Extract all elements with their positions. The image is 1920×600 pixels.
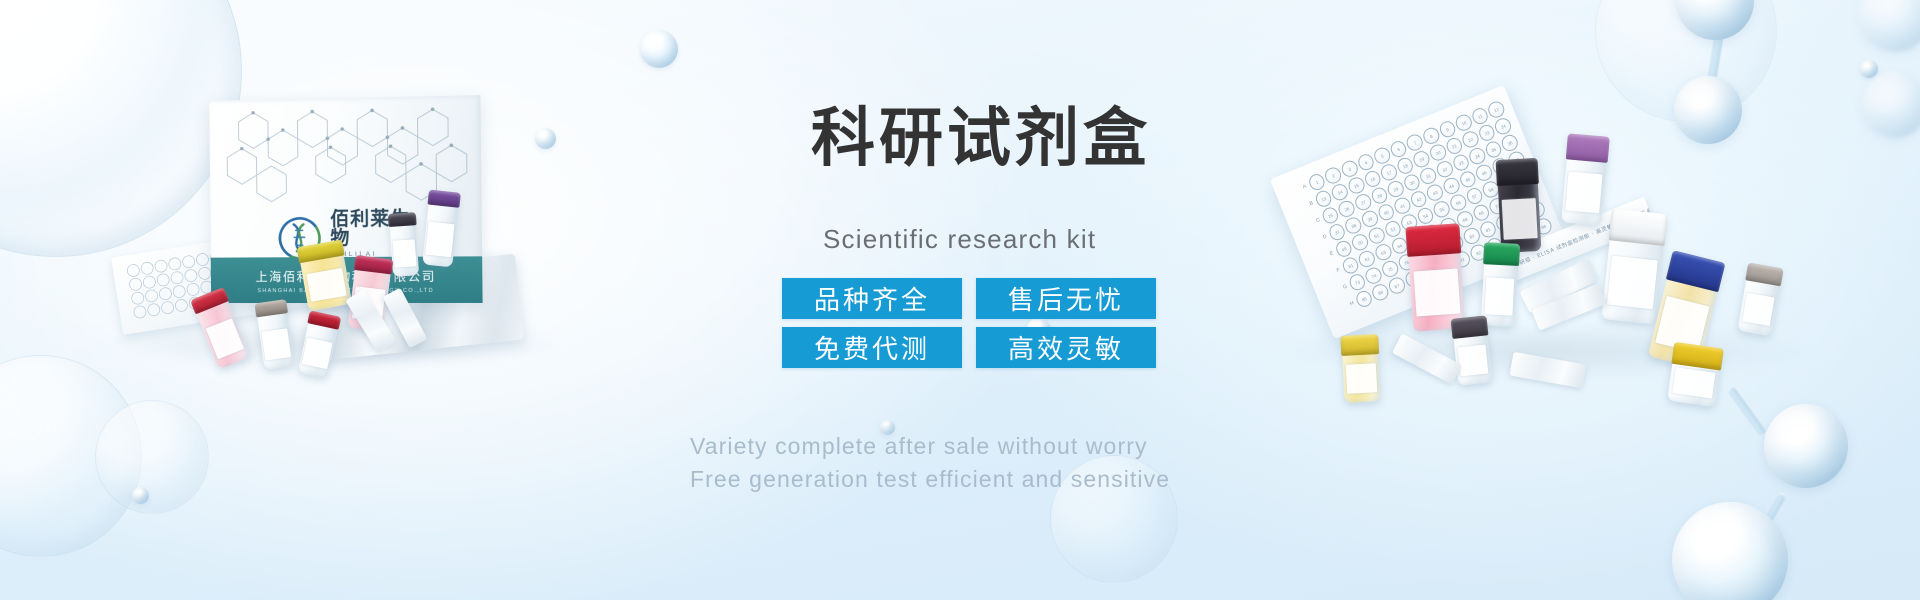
feature-badges: 品种齐全 售后无忧 免费代测 高效灵敏 xyxy=(782,278,1174,376)
feature-badge-variety[interactable]: 品种齐全 xyxy=(782,278,962,319)
banner-tagline-line1: Variety complete after sale without worr… xyxy=(690,430,1170,463)
banner-tagline: Variety complete after sale without worr… xyxy=(690,430,1170,495)
promo-banner: 佰利莱生物 BAILILAI BIOLOGY 上海佰利莱生物科技有限公司 SHA… xyxy=(0,0,1920,600)
feature-badge-aftersale[interactable]: 售后无忧 xyxy=(976,278,1156,319)
banner-copy: 科研试剂盒 Scientific research kit 品种齐全 售后无忧 … xyxy=(0,0,1920,600)
banner-title: 科研试剂盒 xyxy=(811,107,1151,171)
feature-badge-sensitive[interactable]: 高效灵敏 xyxy=(976,327,1156,368)
banner-subtitle: Scientific research kit xyxy=(823,224,1096,255)
feature-badge-row: 免费代测 高效灵敏 xyxy=(782,327,1174,368)
feature-badge-row: 品种齐全 售后无忧 xyxy=(782,278,1174,319)
feature-badge-free-test[interactable]: 免费代测 xyxy=(782,327,962,368)
banner-tagline-line2: Free generation test efficient and sensi… xyxy=(690,463,1170,496)
